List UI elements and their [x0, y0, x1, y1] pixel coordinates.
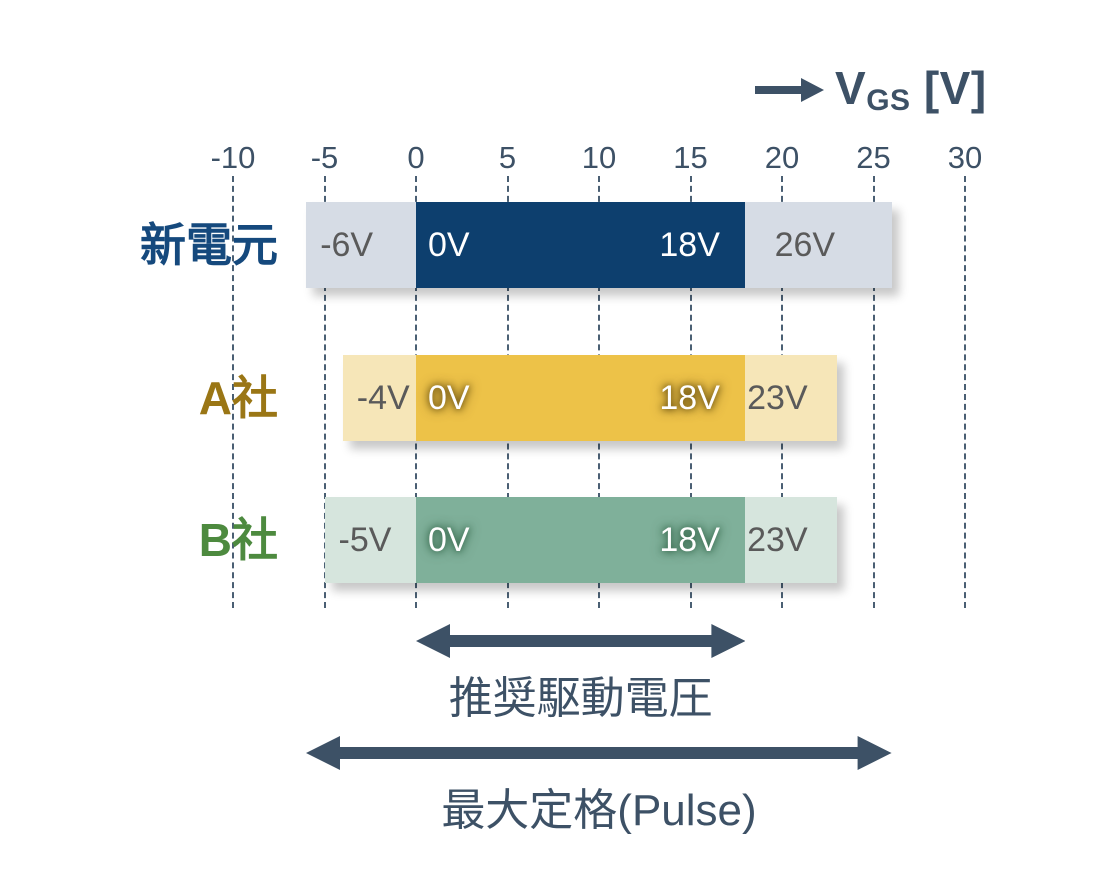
x-tick-label: 15	[673, 141, 707, 175]
row-label-3: B社	[199, 515, 278, 565]
x-tick-label: 30	[948, 141, 982, 175]
value-inner-max-2: 18V	[659, 379, 720, 417]
right-arrow-icon	[755, 76, 825, 104]
x-tick-label: 5	[499, 141, 516, 175]
axis-title: VGS [V]	[835, 62, 987, 121]
value-inner-min-2: 0V	[428, 379, 470, 417]
axis-title-subscript: GS	[866, 84, 910, 117]
value-inner-min-1: 0V	[428, 226, 470, 264]
row-label-2: A社	[199, 373, 278, 423]
x-tick-label: 25	[856, 141, 890, 175]
value-inner-max-3: 18V	[659, 521, 720, 559]
row-label-1: 新電元	[140, 220, 278, 270]
grid-line	[964, 176, 966, 608]
value-outer-min-1: -6V	[320, 226, 373, 264]
chart-canvas: VGS [V] -10-5051015202530 新電元-6V0V18V26V…	[0, 0, 1117, 883]
value-outer-min-3: -5V	[339, 521, 392, 559]
x-tick-label: 10	[582, 141, 616, 175]
value-outer-max-2: 23V	[747, 379, 808, 417]
axis-title-main: V	[835, 62, 866, 114]
value-inner-max-1: 18V	[659, 226, 720, 264]
axis-title-unit: [V]	[911, 62, 987, 114]
x-tick-label: -5	[311, 141, 339, 175]
recommended-range-arrow	[416, 622, 745, 660]
recommended-range-caption: 推奨駆動電圧	[449, 674, 713, 724]
value-inner-min-3: 0V	[428, 521, 470, 559]
x-tick-label: 20	[765, 141, 799, 175]
max-rating-arrow	[306, 734, 892, 772]
max-rating-caption: 最大定格(Pulse)	[441, 786, 756, 836]
x-tick-label: 0	[407, 141, 424, 175]
value-outer-max-1: 26V	[775, 226, 836, 264]
value-outer-min-2: -4V	[357, 379, 410, 417]
x-tick-label: -10	[211, 141, 256, 175]
value-outer-max-3: 23V	[747, 521, 808, 559]
